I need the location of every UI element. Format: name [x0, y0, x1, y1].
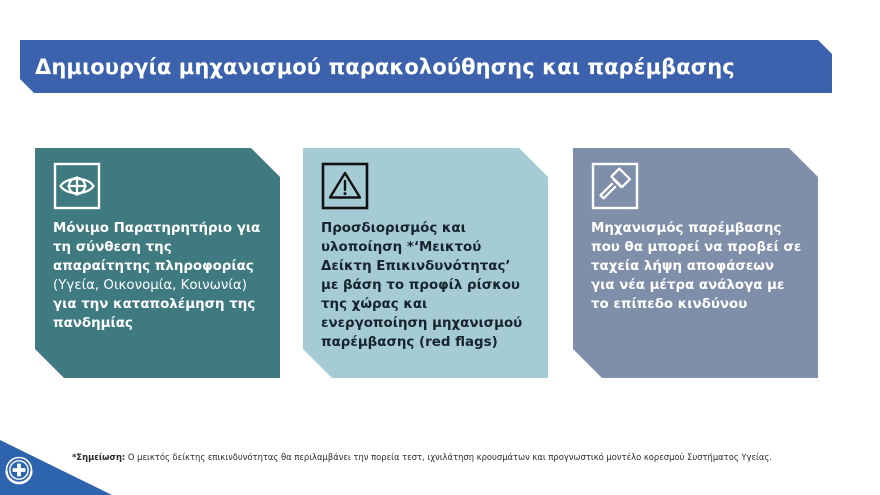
greek-government-emblem	[0, 440, 112, 495]
card-text-segment: (Υγεία, Οικονομία, Κοινωνία)	[53, 278, 247, 293]
card-intervention-mechanism[interactable]: Μηχανισμός παρέμβασης που θα μπορεί να π…	[573, 148, 818, 378]
warning-triangle-icon	[321, 162, 369, 210]
eye-observatory-icon	[53, 162, 101, 210]
card-text-segment: για την καταπολέμηση της πανδημίας	[53, 297, 255, 331]
slide-title-banner: Δημιουργία μηχανισμού παρακολούθησης και…	[20, 40, 832, 93]
card-text-segment: Μόνιμο Παρατηρητήριο για τη σύνθεση της …	[53, 221, 260, 274]
footnote-text: Ο μεικτός δείκτης επικινδυνότητας θα περ…	[125, 452, 772, 462]
cards-row: Μόνιμο Παρατηρητήριο για τη σύνθεση της …	[0, 148, 880, 380]
card-text-mixed-risk-index: Προσδιορισμός και υλοποίηση *‘Μεικτού Δε…	[321, 219, 532, 352]
gavel-icon	[591, 162, 639, 210]
card-text-permanent-observatory: Μόνιμο Παρατηρητήριο για τη σύνθεση της …	[53, 219, 264, 333]
footnote: *Σημείωση: Ο μεικτός δείκτης επικινδυνότ…	[72, 452, 862, 463]
card-permanent-observatory[interactable]: Μόνιμο Παρατηρητήριο για τη σύνθεση της …	[35, 148, 280, 378]
card-text-segment: Προσδιορισμός και υλοποίηση *‘Μεικτού Δε…	[321, 221, 522, 350]
card-mixed-risk-index[interactable]: Προσδιορισμός και υλοποίηση *‘Μεικτού Δε…	[303, 148, 548, 378]
slide-canvas: Δημιουργία μηχανισμού παρακολούθησης και…	[0, 0, 880, 495]
card-text-intervention-mechanism: Μηχανισμός παρέμβασης που θα μπορεί να π…	[591, 219, 802, 314]
card-text-segment: Μηχανισμός παρέμβασης που θα μπορεί να π…	[591, 221, 801, 312]
page-title: Δημιουργία μηχανισμού παρακολούθησης και…	[20, 55, 735, 79]
